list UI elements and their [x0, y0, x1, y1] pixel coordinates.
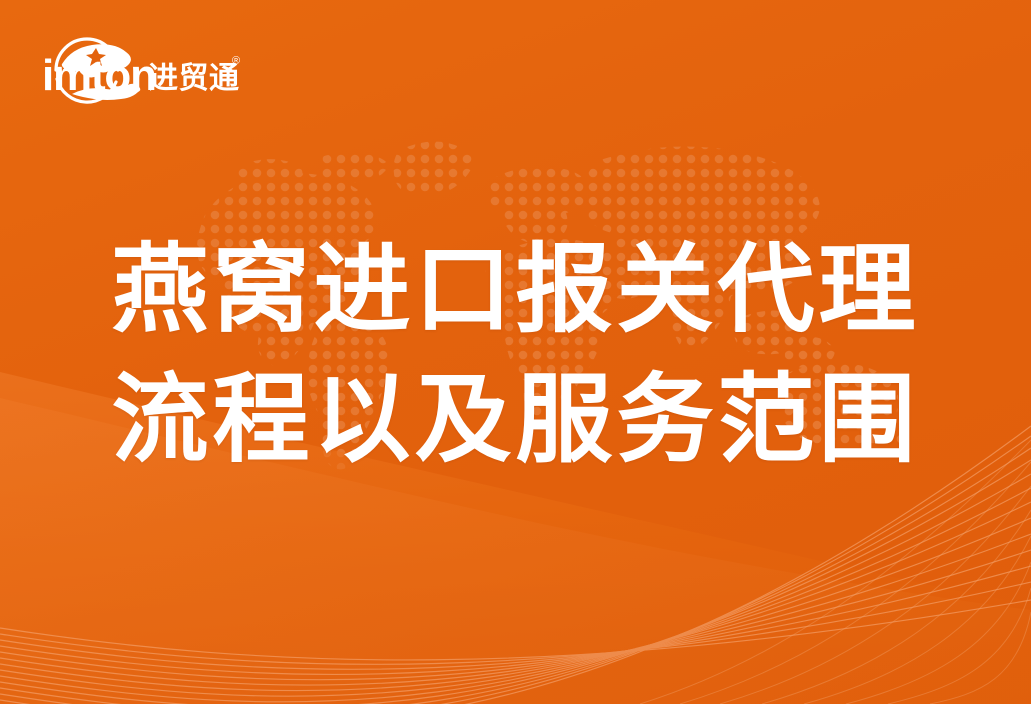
- brand-logo[interactable]: imton 进贸通 ®: [36, 24, 246, 108]
- logo-chinese-name: 进贸通: [148, 62, 240, 95]
- page-title-line-2: 流程以及服务范围: [0, 356, 1031, 486]
- logo-svg: imton 进贸通 ®: [36, 24, 246, 108]
- page-title: 燕窝进口报关代理 流程以及服务范围: [0, 226, 1031, 486]
- page-title-line-1: 燕窝进口报关代理: [0, 226, 1031, 356]
- promo-banner: imton 进贸通 ® 燕窝进口报关代理 流程以及服务范围: [0, 0, 1031, 704]
- trademark-icon: ®: [232, 55, 240, 67]
- logo-wordmark: imton: [42, 51, 156, 100]
